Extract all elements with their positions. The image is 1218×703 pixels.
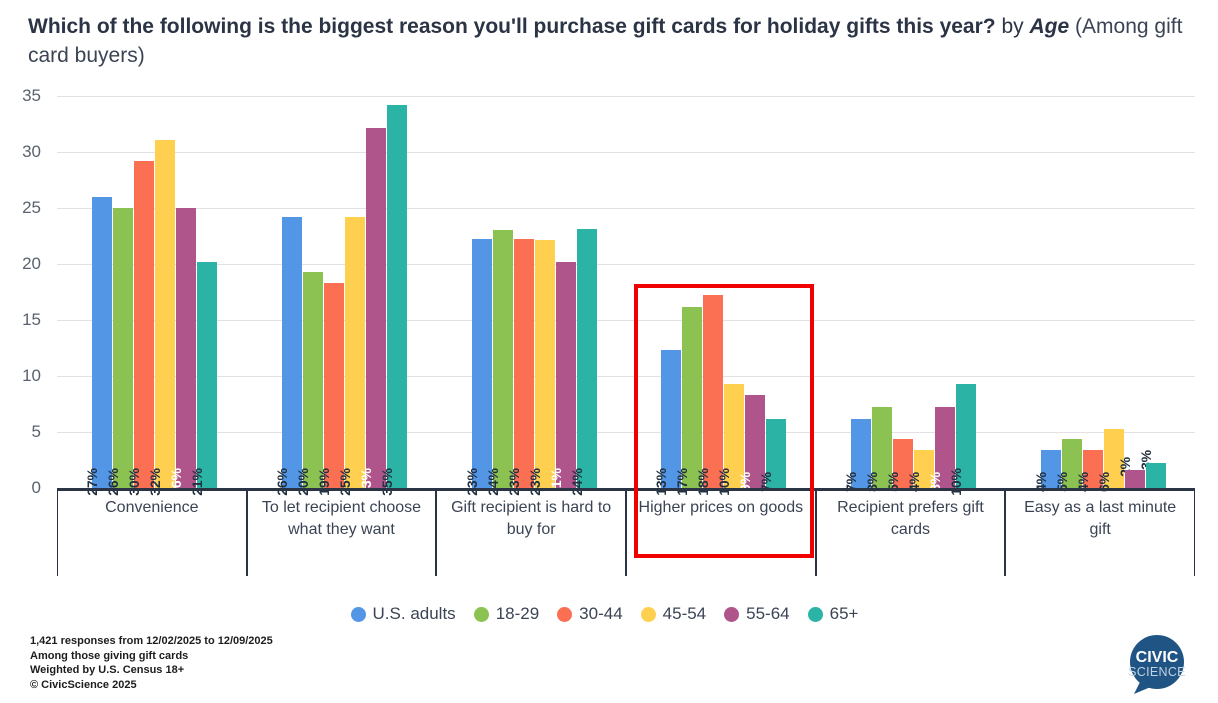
bar[interactable]: 7% xyxy=(851,96,871,488)
bar-rect[interactable]: 23% xyxy=(472,239,492,488)
bar-rect[interactable]: 18% xyxy=(703,295,723,488)
category-label: To let recipient choose what they want xyxy=(247,491,437,576)
bar[interactable]: 8% xyxy=(872,96,892,488)
bar[interactable]: 17% xyxy=(682,96,702,488)
bar[interactable]: 5% xyxy=(893,96,913,488)
bar[interactable]: 26% xyxy=(176,96,196,488)
bar[interactable]: 8% xyxy=(935,96,955,488)
bar-rect[interactable]: 26% xyxy=(176,208,196,488)
bar[interactable]: 7% xyxy=(766,96,786,488)
bar-rect[interactable] xyxy=(1146,463,1166,488)
bar-group: 13%17%18%10%9%7% xyxy=(626,96,816,488)
bar-rect[interactable]: 27% xyxy=(92,197,112,488)
bar[interactable]: 33% xyxy=(366,96,386,488)
bar[interactable]: 20% xyxy=(303,96,323,488)
legend-label: 55-64 xyxy=(746,604,789,624)
bar-group: 4%5%4%6%2%3% xyxy=(1005,96,1195,488)
bar-rect[interactable]: 7% xyxy=(766,419,786,488)
y-axis-tick-label: 0 xyxy=(32,478,41,498)
title-breakdown: Age xyxy=(1030,15,1070,38)
bar[interactable]: 4% xyxy=(1041,96,1061,488)
legend-color-swatch xyxy=(351,607,366,622)
footer-notes: 1,421 responses from 12/02/2025 to 12/09… xyxy=(30,634,273,692)
bar[interactable]: 24% xyxy=(493,96,513,488)
footer-line-weighting: Weighted by U.S. Census 18+ xyxy=(30,663,273,678)
legend-label: 45-54 xyxy=(663,604,706,624)
y-axis-tick-label: 20 xyxy=(22,254,41,274)
page-title: Which of the following is the biggest re… xyxy=(28,12,1188,70)
bar[interactable]: 30% xyxy=(134,96,154,488)
bar[interactable]: 35% xyxy=(387,96,407,488)
y-axis-tick-label: 15 xyxy=(22,310,41,330)
legend-color-swatch xyxy=(724,607,739,622)
bar-rect[interactable]: 21% xyxy=(197,262,217,488)
bar[interactable]: 24% xyxy=(577,96,597,488)
bar[interactable]: 4% xyxy=(1083,96,1103,488)
bar-rect[interactable]: 30% xyxy=(134,161,154,488)
bar[interactable]: 9% xyxy=(745,96,765,488)
bar-rect[interactable]: 10% xyxy=(956,384,976,488)
title-by: by xyxy=(1001,15,1023,38)
bar[interactable]: 26% xyxy=(113,96,133,488)
bar-rect[interactable]: 19% xyxy=(324,283,344,488)
legend-color-swatch xyxy=(641,607,656,622)
bar-rect[interactable]: 25% xyxy=(345,217,365,488)
bar[interactable]: 26% xyxy=(282,96,302,488)
y-axis-tick-label: 5 xyxy=(32,422,41,442)
bar[interactable]: 6% xyxy=(1104,96,1124,488)
logo-text-civic: CIVIC xyxy=(1136,649,1179,666)
bar-rect[interactable]: 24% xyxy=(577,229,597,488)
bar-rect[interactable]: 23% xyxy=(535,240,555,488)
bar[interactable]: 18% xyxy=(703,96,723,488)
civicscience-logo: CIVIC SCIENCE xyxy=(1108,634,1200,696)
bar[interactable]: 32% xyxy=(155,96,175,488)
plot-area: 27%26%30%32%26%21%26%20%19%25%33%35%23%2… xyxy=(57,96,1195,488)
bar[interactable]: 27% xyxy=(92,96,112,488)
bar[interactable]: 19% xyxy=(324,96,344,488)
bar-rect[interactable]: 21% xyxy=(556,262,576,488)
logo-text-science: SCIENCE xyxy=(1128,665,1186,679)
footer-line-subset: Among those giving gift cards xyxy=(30,649,273,664)
category-label: Higher prices on goods xyxy=(626,491,816,576)
bar[interactable]: 23% xyxy=(472,96,492,488)
bar[interactable]: 5% xyxy=(1062,96,1082,488)
legend-item[interactable]: 65+ xyxy=(808,604,859,624)
legend-item[interactable]: U.S. adults xyxy=(351,604,456,624)
category-label: Gift recipient is hard to buy for xyxy=(436,491,626,576)
legend-color-swatch xyxy=(474,607,489,622)
legend-label: U.S. adults xyxy=(373,604,456,624)
y-axis-tick-label: 10 xyxy=(22,366,41,386)
legend-label: 18-29 xyxy=(496,604,539,624)
legend-item[interactable]: 30-44 xyxy=(557,604,622,624)
legend-label: 65+ xyxy=(830,604,859,624)
bar-rect[interactable]: 35% xyxy=(387,105,407,488)
bar-rect[interactable]: 32% xyxy=(155,140,175,488)
bar-group: 7%8%5%4%8%10% xyxy=(816,96,1006,488)
legend-item[interactable]: 45-54 xyxy=(641,604,706,624)
y-axis-tick-label: 30 xyxy=(22,142,41,162)
bar-rect[interactable]: 17% xyxy=(682,307,702,488)
bar-group: 26%20%19%25%33%35% xyxy=(247,96,437,488)
y-axis-tick-label: 25 xyxy=(22,198,41,218)
bar[interactable]: 13% xyxy=(661,96,681,488)
bar-group: 27%26%30%32%26%21% xyxy=(57,96,247,488)
bar-rect[interactable]: 23% xyxy=(514,239,534,488)
legend-label: 30-44 xyxy=(579,604,622,624)
y-axis: 05101520253035 xyxy=(0,96,48,496)
title-question: Which of the following is the biggest re… xyxy=(28,15,996,38)
bar[interactable]: 2% xyxy=(1125,96,1145,488)
footer-line-responses: 1,421 responses from 12/02/2025 to 12/09… xyxy=(30,634,273,649)
bar-rect[interactable]: 20% xyxy=(303,272,323,488)
legend-color-swatch xyxy=(808,607,823,622)
bar-group: 23%24%23%23%21%24% xyxy=(436,96,626,488)
y-axis-tick-label: 35 xyxy=(22,86,41,106)
bar-rect[interactable]: 24% xyxy=(493,230,513,488)
bar-rect[interactable]: 33% xyxy=(366,128,386,488)
bar-rect[interactable]: 26% xyxy=(282,217,302,488)
category-label: Convenience xyxy=(57,491,247,576)
bar-rect[interactable] xyxy=(1125,470,1145,488)
bar[interactable]: 21% xyxy=(556,96,576,488)
bar[interactable]: 3% xyxy=(1146,96,1166,488)
speech-bubble-icon: CIVIC SCIENCE xyxy=(1108,634,1200,696)
footer-line-copyright: © CivicScience 2025 xyxy=(30,678,273,693)
category-label: Easy as a last minute gift xyxy=(1005,491,1195,576)
bar[interactable]: 10% xyxy=(956,96,976,488)
legend-color-swatch xyxy=(557,607,572,622)
bar[interactable]: 23% xyxy=(514,96,534,488)
bar-rect[interactable]: 26% xyxy=(113,208,133,488)
bar[interactable]: 10% xyxy=(724,96,744,488)
legend-item[interactable]: 18-29 xyxy=(474,604,539,624)
category-axis: ConvenienceTo let recipient choose what … xyxy=(57,491,1195,576)
legend-item[interactable]: 55-64 xyxy=(724,604,789,624)
bar[interactable]: 4% xyxy=(914,96,934,488)
category-label: Recipient prefers gift cards xyxy=(816,491,1006,576)
bar[interactable]: 21% xyxy=(197,96,217,488)
bar[interactable]: 25% xyxy=(345,96,365,488)
bar[interactable]: 23% xyxy=(535,96,555,488)
legend: U.S. adults18-2930-4445-5455-6465+ xyxy=(0,604,1218,624)
